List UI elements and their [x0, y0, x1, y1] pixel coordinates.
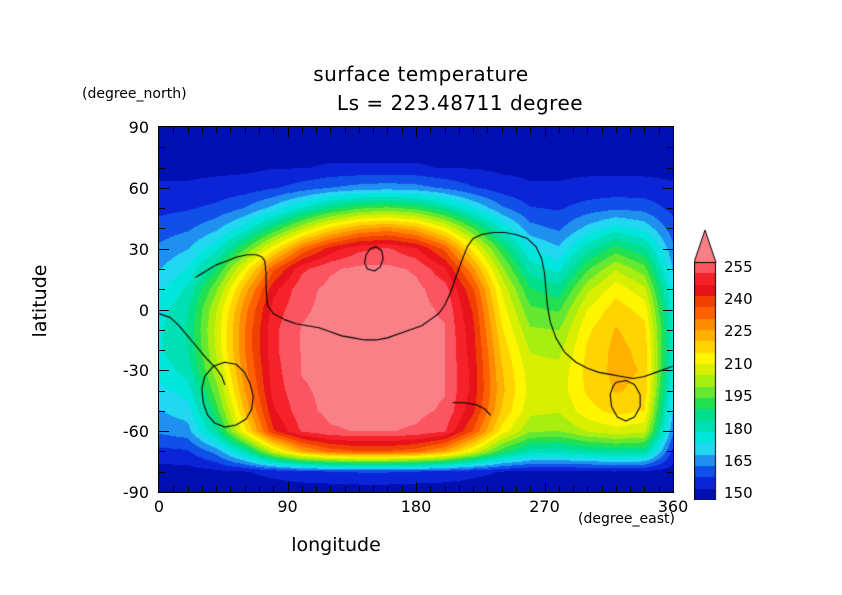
x-axis-tick-label: 180 [386, 497, 446, 516]
axis-tick [188, 127, 189, 133]
axis-tick [316, 127, 317, 133]
axis-tick [663, 249, 673, 250]
axis-tick [159, 147, 165, 148]
axis-tick [373, 486, 374, 492]
axis-tick [159, 330, 165, 331]
axis-tick [273, 127, 274, 133]
x-axis-tick-label: 90 [258, 497, 318, 516]
colorbar-tick-label: 180 [724, 420, 753, 438]
axis-tick [530, 486, 531, 492]
x-axis-tick-label: 270 [515, 497, 575, 516]
axis-tick [667, 391, 673, 392]
axis-tick [663, 310, 673, 311]
axis-tick [667, 350, 673, 351]
axis-tick [667, 330, 673, 331]
axis-tick [259, 127, 260, 133]
axis-tick [330, 127, 331, 133]
axis-tick [159, 188, 169, 189]
axis-tick [516, 486, 517, 492]
axis-tick [602, 127, 603, 133]
axis-tick [667, 228, 673, 229]
axis-tick [288, 127, 289, 137]
axis-tick [302, 486, 303, 492]
y-axis-tick-label: 30 [103, 240, 149, 259]
axis-tick [159, 431, 169, 432]
axis-tick [545, 482, 546, 492]
axis-tick [202, 127, 203, 133]
temperature-map-plot [158, 126, 674, 493]
colorbar-tick-label: 210 [724, 355, 753, 373]
axis-tick [173, 127, 174, 133]
axis-tick [602, 486, 603, 492]
axis-tick [430, 127, 431, 133]
y-axis-title: latitude [29, 231, 51, 371]
axis-tick [667, 451, 673, 452]
axis-tick [416, 482, 417, 492]
axis-tick [416, 127, 417, 137]
colorbar-tick-label: 195 [724, 387, 753, 405]
axis-tick [502, 127, 503, 133]
axis-tick [387, 486, 388, 492]
axis-tick [630, 486, 631, 492]
axis-tick [616, 127, 617, 133]
axis-tick [159, 451, 165, 452]
axis-tick [616, 486, 617, 492]
colorbar-tick-label: 225 [724, 322, 753, 340]
axis-tick [530, 127, 531, 133]
axis-tick [402, 127, 403, 133]
axis-tick [159, 168, 165, 169]
axis-tick [516, 127, 517, 133]
axis-tick [667, 472, 673, 473]
axis-tick [644, 127, 645, 133]
axis-tick [473, 127, 474, 133]
axis-tick [159, 310, 169, 311]
y-axis-tick-label: -60 [103, 422, 149, 441]
axis-tick [159, 269, 165, 270]
axis-tick [630, 127, 631, 133]
axis-tick [273, 486, 274, 492]
axis-tick [159, 350, 165, 351]
axis-tick [230, 127, 231, 133]
colorbar-tick-label: 165 [724, 452, 753, 470]
axis-tick [259, 486, 260, 492]
axis-tick [216, 127, 217, 133]
axis-tick [159, 249, 169, 250]
axis-tick [559, 486, 560, 492]
axis-tick [316, 486, 317, 492]
axis-tick [159, 391, 165, 392]
axis-tick [487, 127, 488, 133]
axis-tick [667, 411, 673, 412]
axis-tick [302, 127, 303, 133]
axis-tick [659, 127, 660, 133]
axis-tick [430, 486, 431, 492]
colorbar-tick-label: 150 [724, 484, 753, 502]
colorbar [694, 228, 724, 500]
axis-tick [345, 127, 346, 133]
axis-tick [445, 486, 446, 492]
axis-tick [459, 127, 460, 133]
axis-tick [667, 147, 673, 148]
axis-tick [159, 370, 169, 371]
y-axis-tick-label: 60 [103, 179, 149, 198]
axis-tick [667, 168, 673, 169]
y-axis-tick-label: 90 [103, 118, 149, 137]
axis-tick [230, 486, 231, 492]
colorbar-tick-label: 240 [724, 290, 753, 308]
axis-tick [644, 486, 645, 492]
axis-tick [502, 486, 503, 492]
axis-tick [573, 486, 574, 492]
x-axis-title: longitude [0, 534, 672, 556]
axis-tick [587, 127, 588, 133]
axis-tick [159, 411, 165, 412]
axis-tick [288, 482, 289, 492]
axis-tick [667, 269, 673, 270]
axis-tick [473, 486, 474, 492]
chart-title-main: surface temperature [0, 60, 842, 89]
axis-tick [545, 127, 546, 137]
axis-tick [373, 127, 374, 133]
axis-tick [345, 486, 346, 492]
axis-tick [667, 289, 673, 290]
axis-tick [359, 127, 360, 133]
axis-tick [559, 127, 560, 133]
axis-tick [487, 486, 488, 492]
axis-tick [359, 486, 360, 492]
y-axis-unit-label: (degree_north) [82, 86, 187, 102]
axis-tick [663, 188, 673, 189]
axis-tick [159, 289, 165, 290]
axis-tick [245, 486, 246, 492]
y-axis-tick-label: 0 [103, 301, 149, 320]
y-axis-tick-label: -30 [103, 361, 149, 380]
axis-tick [159, 228, 165, 229]
axis-tick [667, 208, 673, 209]
axis-tick [330, 486, 331, 492]
axis-tick [459, 486, 460, 492]
axis-tick [159, 208, 165, 209]
axis-tick [659, 486, 660, 492]
axis-tick [216, 486, 217, 492]
axis-tick [173, 486, 174, 492]
temperature-heatmap-canvas [159, 127, 673, 492]
axis-tick [663, 431, 673, 432]
axis-tick [387, 127, 388, 133]
axis-tick [202, 486, 203, 492]
y-axis-tick-label: -90 [103, 483, 149, 502]
axis-tick [402, 486, 403, 492]
axis-tick [573, 127, 574, 133]
axis-tick [663, 370, 673, 371]
axis-tick [587, 486, 588, 492]
colorbar-tick-label: 255 [724, 258, 753, 276]
colorbar-canvas [694, 228, 724, 500]
axis-tick [188, 486, 189, 492]
axis-tick [445, 127, 446, 133]
axis-tick [245, 127, 246, 133]
axis-tick [159, 472, 165, 473]
